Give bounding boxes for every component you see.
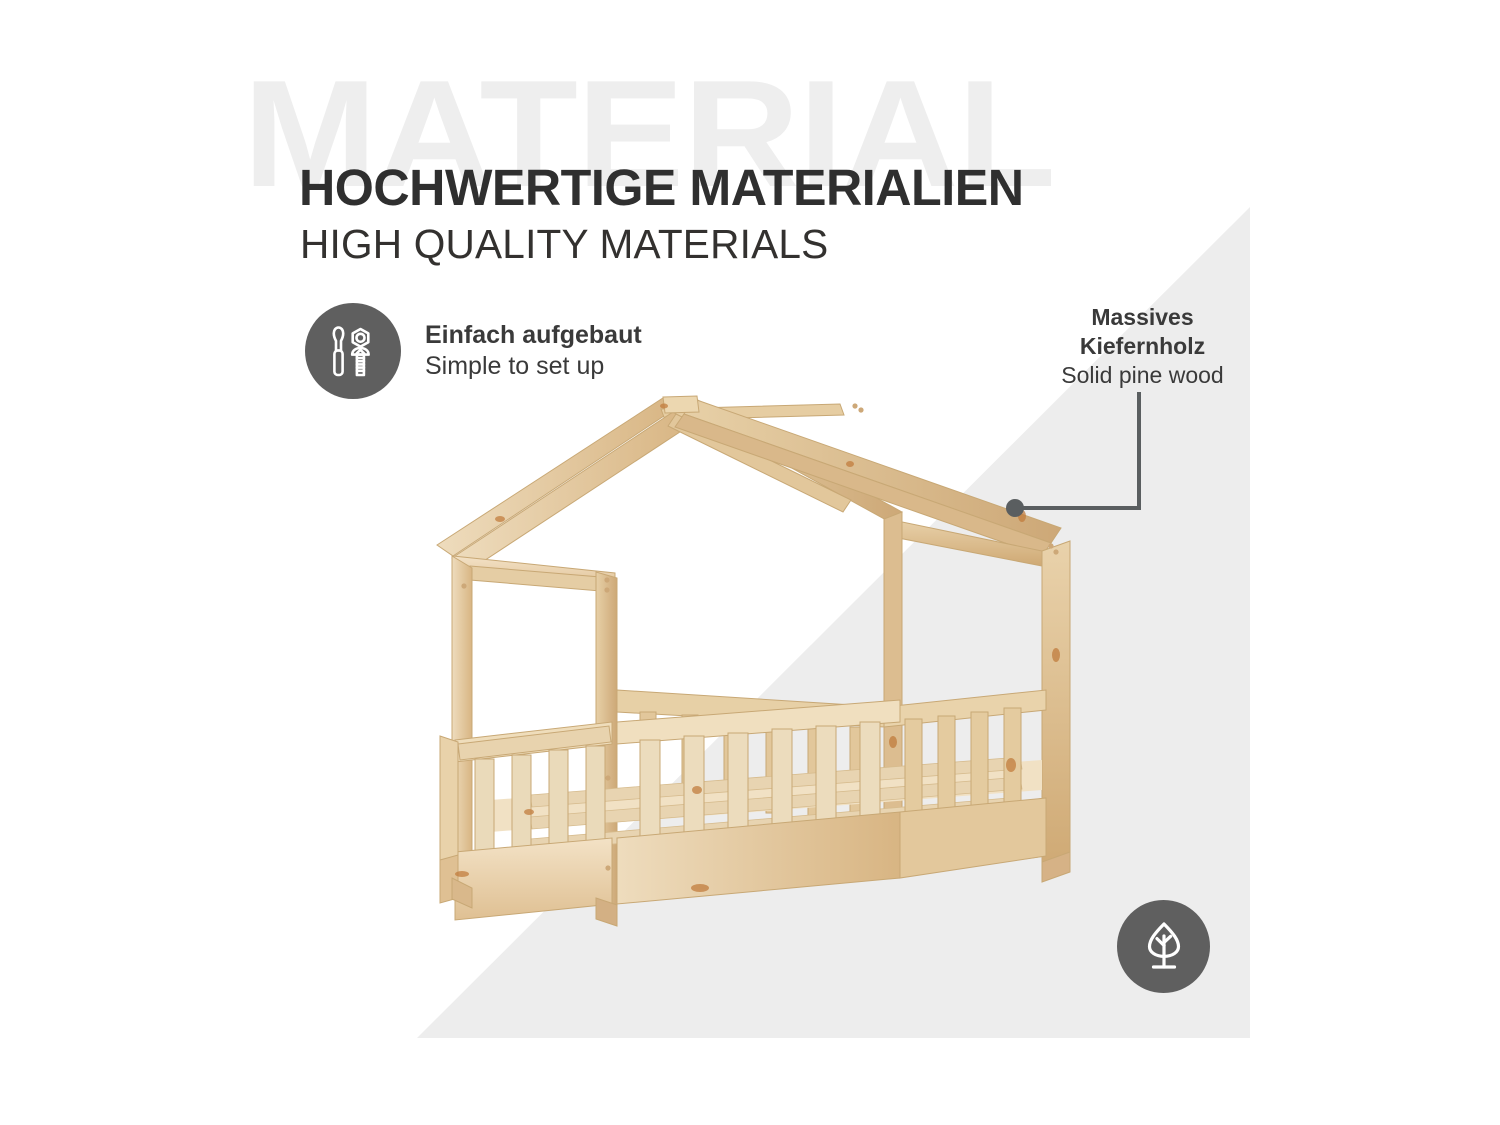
callout-line-1: Massives	[1035, 303, 1250, 332]
tree-icon	[1117, 900, 1210, 993]
callout-leader-line	[0, 0, 1500, 1125]
callout-solid-pine-wood: Massives Kiefernholz Solid pine wood	[1035, 303, 1250, 390]
callout-line-3: Solid pine wood	[1035, 361, 1250, 390]
callout-line-2: Kiefernholz	[1035, 332, 1250, 361]
infographic-canvas: MATERIAL HOCHWERTIGE MATERIALIEN HIGH QU…	[0, 0, 1500, 1125]
